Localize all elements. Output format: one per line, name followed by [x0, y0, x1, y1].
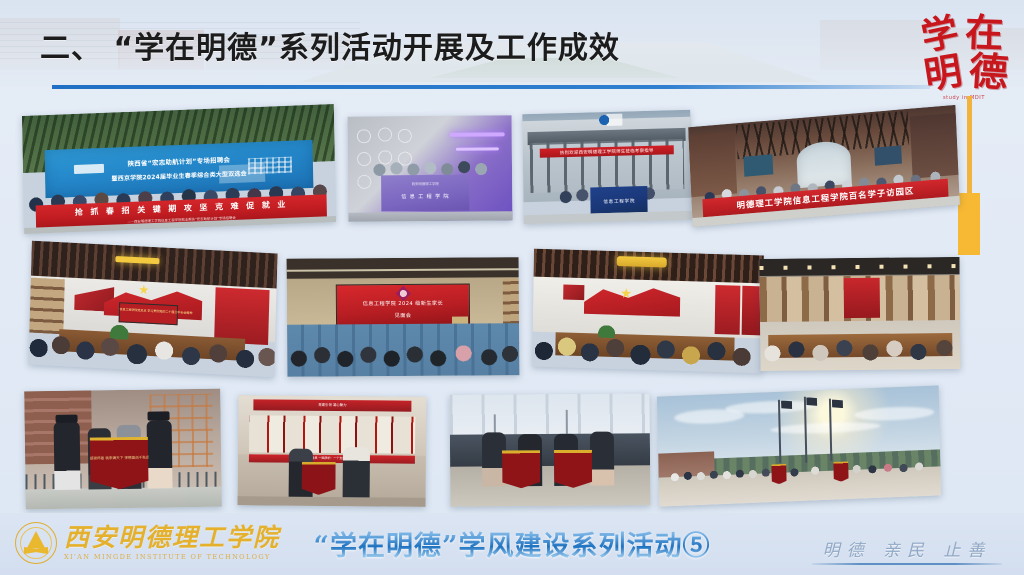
title-underline [52, 85, 930, 89]
flag-text: 信息工程学院 [591, 198, 648, 205]
gratitude-pennant [302, 462, 336, 495]
flag-subtext: 西安明德理工学院 [381, 181, 470, 187]
gratitude-pennant [554, 450, 592, 488]
seal-characters: 学 在 明 德 [913, 5, 1015, 101]
street-lamp [566, 410, 568, 437]
xue-zai-mingde-seal: 学 在 明 德 study in MDIT [916, 8, 1012, 98]
university-motto: 明德 亲民 止善 [812, 536, 1002, 565]
seal-subtext: study in MDIT [916, 95, 1012, 101]
red-display-panel [844, 278, 880, 319]
photo-graduates-banners-outdoor [450, 393, 651, 506]
photo-job-fair-group: 陕西省“宏志助航计划”专场招聘会 暨西京学院2024届毕业生春季综合类大型双选会… [22, 104, 336, 234]
screen-text-line1: 信息工程学院 2024 级新生家长 [338, 300, 468, 308]
company-logo [596, 114, 622, 127]
graduate-in-gown [590, 432, 614, 486]
motto-underline [812, 563, 1002, 565]
purple-department-flag: 西安明德理工学院 信 息 工 程 学 院 [381, 174, 470, 210]
photo-industrial-park-visit: 明德理工学院信息工程学院百名学子访园区 [688, 105, 960, 227]
display-screen [743, 154, 773, 176]
accent-bar-thin [967, 96, 972, 200]
seated-students [760, 320, 960, 367]
display-screen [874, 146, 902, 166]
floor [348, 211, 512, 222]
dark-fence [450, 434, 650, 469]
photo-freshmen-parents-meeting: 信息工程学院 2024 级新生家长 见面会 [287, 257, 520, 377]
graduation-cap [56, 414, 78, 423]
neon-light [449, 132, 505, 136]
ground [524, 211, 692, 224]
photo-library-reading-room [759, 257, 960, 371]
slide-footer: 西安明德理工学院 XI'AN MINGDE INSTITUTE OF TECHN… [0, 513, 1024, 575]
accent-bar-block [958, 193, 980, 255]
ground [26, 487, 222, 510]
caption-text: “学在明德”学风建设系列活动⑤ [313, 524, 710, 563]
graduate-in-gown [146, 420, 172, 489]
person [343, 447, 370, 500]
neon-light [456, 147, 499, 150]
page-title: 二、 “学在明德”系列活动开展及工作成效 [40, 23, 620, 67]
top-banner-text: 党建引领 凝心聚力 [253, 401, 411, 407]
photo-company-entrance-group: 热烈欢迎西安明德理工学院师生莅临考察指导 信息工程学院 [522, 110, 691, 224]
floor [238, 496, 426, 506]
flag [806, 397, 817, 406]
seated-attendees [532, 315, 763, 371]
gratitude-pennant: 感谢师恩 桃李满天下 师德高尚千秋颂 [90, 437, 150, 490]
motto-text: 明德 亲民 止善 [812, 536, 1002, 561]
photo-flag-ceremony-group [657, 385, 941, 506]
sub-banner-text: 一名党员 一面旗帜 · 一个支部 一座堡垒 [249, 456, 414, 461]
photo-department-conference [532, 249, 764, 374]
photo-graduates-pennant: 感谢师恩 桃李满天下 师德高尚千秋颂 [24, 389, 222, 510]
flag [832, 399, 843, 408]
gratitude-pennant [502, 450, 540, 488]
seal-char: 德 [961, 46, 1016, 98]
photo-exhibition-hall: 党建引领 凝心聚力 一名党员 一面旗帜 · 一个支部 一座堡垒 [238, 395, 427, 507]
gratitude-pennant [833, 461, 848, 482]
ceiling-light [616, 256, 667, 268]
exhibit-boards [249, 415, 415, 454]
pennant-text: 感谢师恩 桃李满天下 师德高尚千秋颂 [90, 456, 149, 462]
top-banner: 党建引领 凝心聚力 [253, 400, 411, 412]
flag-text: 信 息 工 程 学 院 [381, 193, 470, 201]
presentation-slide: 二、 “学在明德”系列活动开展及工作成效 学 在 明 德 study in MD… [0, 0, 1024, 575]
wall-calligraphy [563, 285, 584, 300]
screen-text: 信息工程学院党总支 学习贯彻党的二十届三中全会精神 [119, 307, 176, 314]
flag [781, 400, 792, 409]
graduation-cap [148, 412, 170, 421]
graduate-in-gown [54, 421, 80, 490]
photo-party-study-meeting: 信息工程学院党总支 学习贯彻党的二十届三中全会精神 [28, 241, 277, 378]
photo-studio-visit-group: 西安明德理工学院 信 息 工 程 学 院 [348, 115, 513, 221]
ground [450, 465, 650, 507]
gratitude-pennant [771, 464, 786, 485]
audience-heads [287, 328, 519, 370]
blue-department-flag: 信息工程学院 [590, 186, 647, 214]
screen-text-line2: 见面会 [338, 312, 468, 320]
